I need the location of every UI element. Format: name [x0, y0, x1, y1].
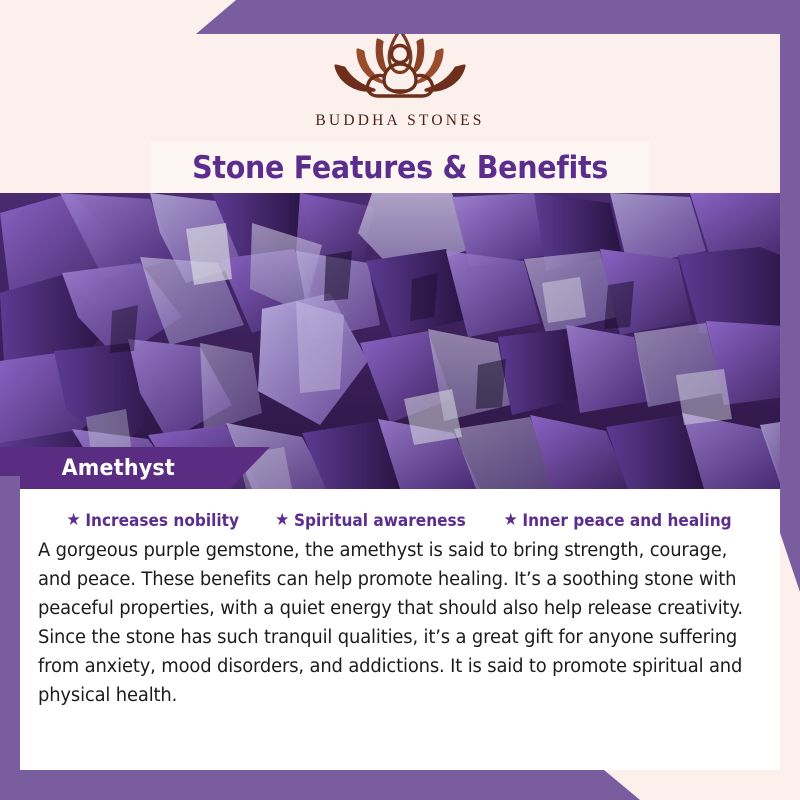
- content-card: ★ Increases nobility ★ Spiritual awarene…: [20, 489, 780, 770]
- benefit-item-1: ★ Increases nobility: [67, 511, 239, 530]
- stone-name-label: Amethyst: [62, 456, 175, 481]
- benefit-label-3: Inner peace and healing: [522, 511, 731, 530]
- star-icon: ★: [503, 512, 517, 529]
- title-banner: Stone Features & Benefits: [150, 142, 650, 193]
- page-title: Stone Features & Benefits: [192, 150, 608, 186]
- amethyst-crystal-cluster-icon: [0, 193, 800, 489]
- benefit-label-2: Spiritual awareness: [294, 511, 466, 530]
- lotus-meditation-icon: [310, 24, 490, 108]
- frame-bottom-bar: [0, 770, 800, 800]
- frame-left-bar: [0, 476, 20, 800]
- frame-right-bar: [780, 0, 800, 592]
- stone-info-poster: BUDDHA STONES Stone Features & Benefits …: [0, 0, 800, 800]
- stone-name-badge: Amethyst: [0, 447, 270, 489]
- benefit-item-3: ★ Inner peace and healing: [503, 511, 731, 530]
- stone-description: A gorgeous purple gemstone, the amethyst…: [38, 536, 751, 710]
- brand-name: BUDDHA STONES: [315, 112, 484, 130]
- benefit-label-1: Increases nobility: [85, 511, 239, 530]
- star-icon: ★: [275, 512, 289, 529]
- amethyst-hero-image: [0, 193, 800, 489]
- star-icon: ★: [67, 512, 81, 529]
- benefits-list: ★ Increases nobility ★ Spiritual awarene…: [36, 511, 764, 530]
- benefit-item-2: ★ Spiritual awareness: [275, 511, 466, 530]
